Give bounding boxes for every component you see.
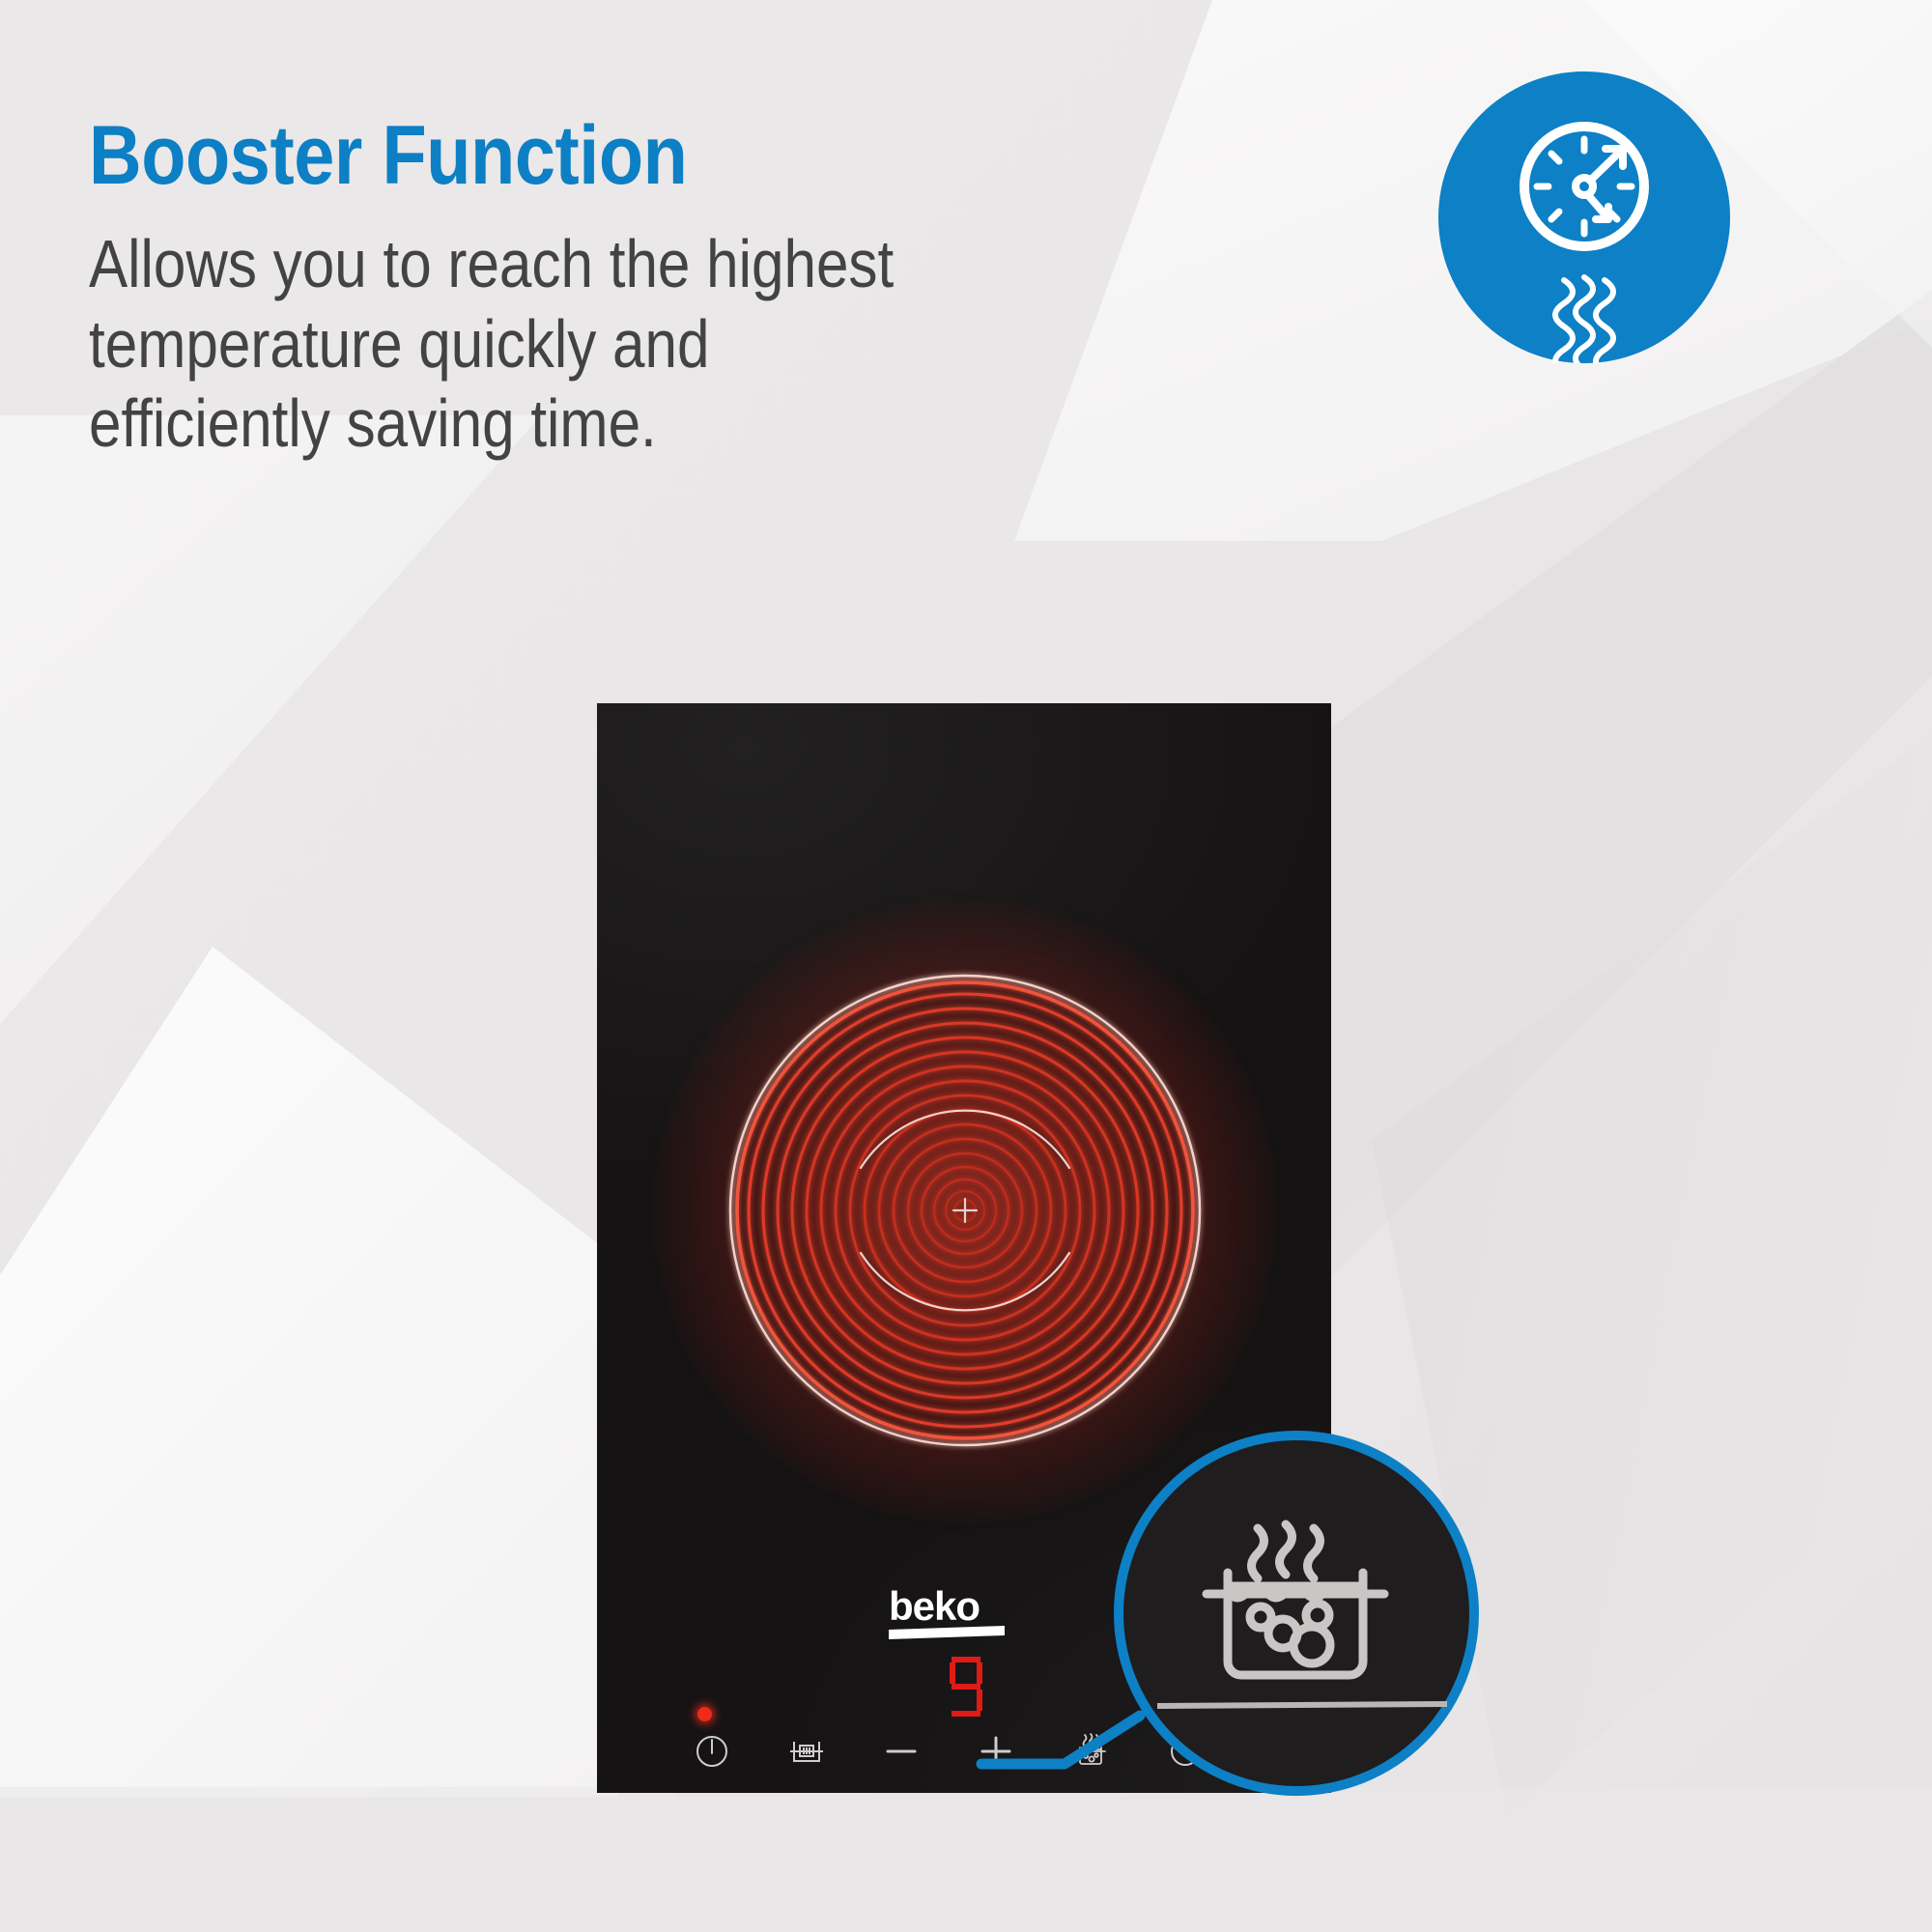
key-lock-button[interactable] [781,1722,833,1775]
decrease-button[interactable] [875,1722,927,1775]
description-line-1: Allows you to reach the highest [89,224,1069,304]
power-button[interactable] [686,1722,738,1775]
page-title: Booster Function [89,114,1092,197]
headline-block: Booster Function Allows you to reach the… [89,114,1229,464]
power-icon [686,1722,738,1775]
description-line-2: temperature quickly and [89,304,1069,384]
clock-fast-heat-icon [1438,71,1730,363]
page-description: Allows you to reach the highest temperat… [89,224,1069,464]
magnified-slider-track [1157,1704,1447,1706]
svg-text:beko: beko [889,1583,980,1629]
minus-icon [875,1722,927,1775]
feature-badge [1438,71,1730,363]
power-led [697,1707,712,1721]
booster-key-magnifier [1111,1428,1482,1799]
zone-rings [724,969,1207,1452]
beko-wordmark: beko [887,1581,1041,1649]
cooking-zone[interactable] [724,969,1207,1452]
description-line-3: efficiently saving time. [89,384,1069,464]
key-lock-icon [781,1722,833,1775]
brand-logo: beko [887,1581,1041,1649]
